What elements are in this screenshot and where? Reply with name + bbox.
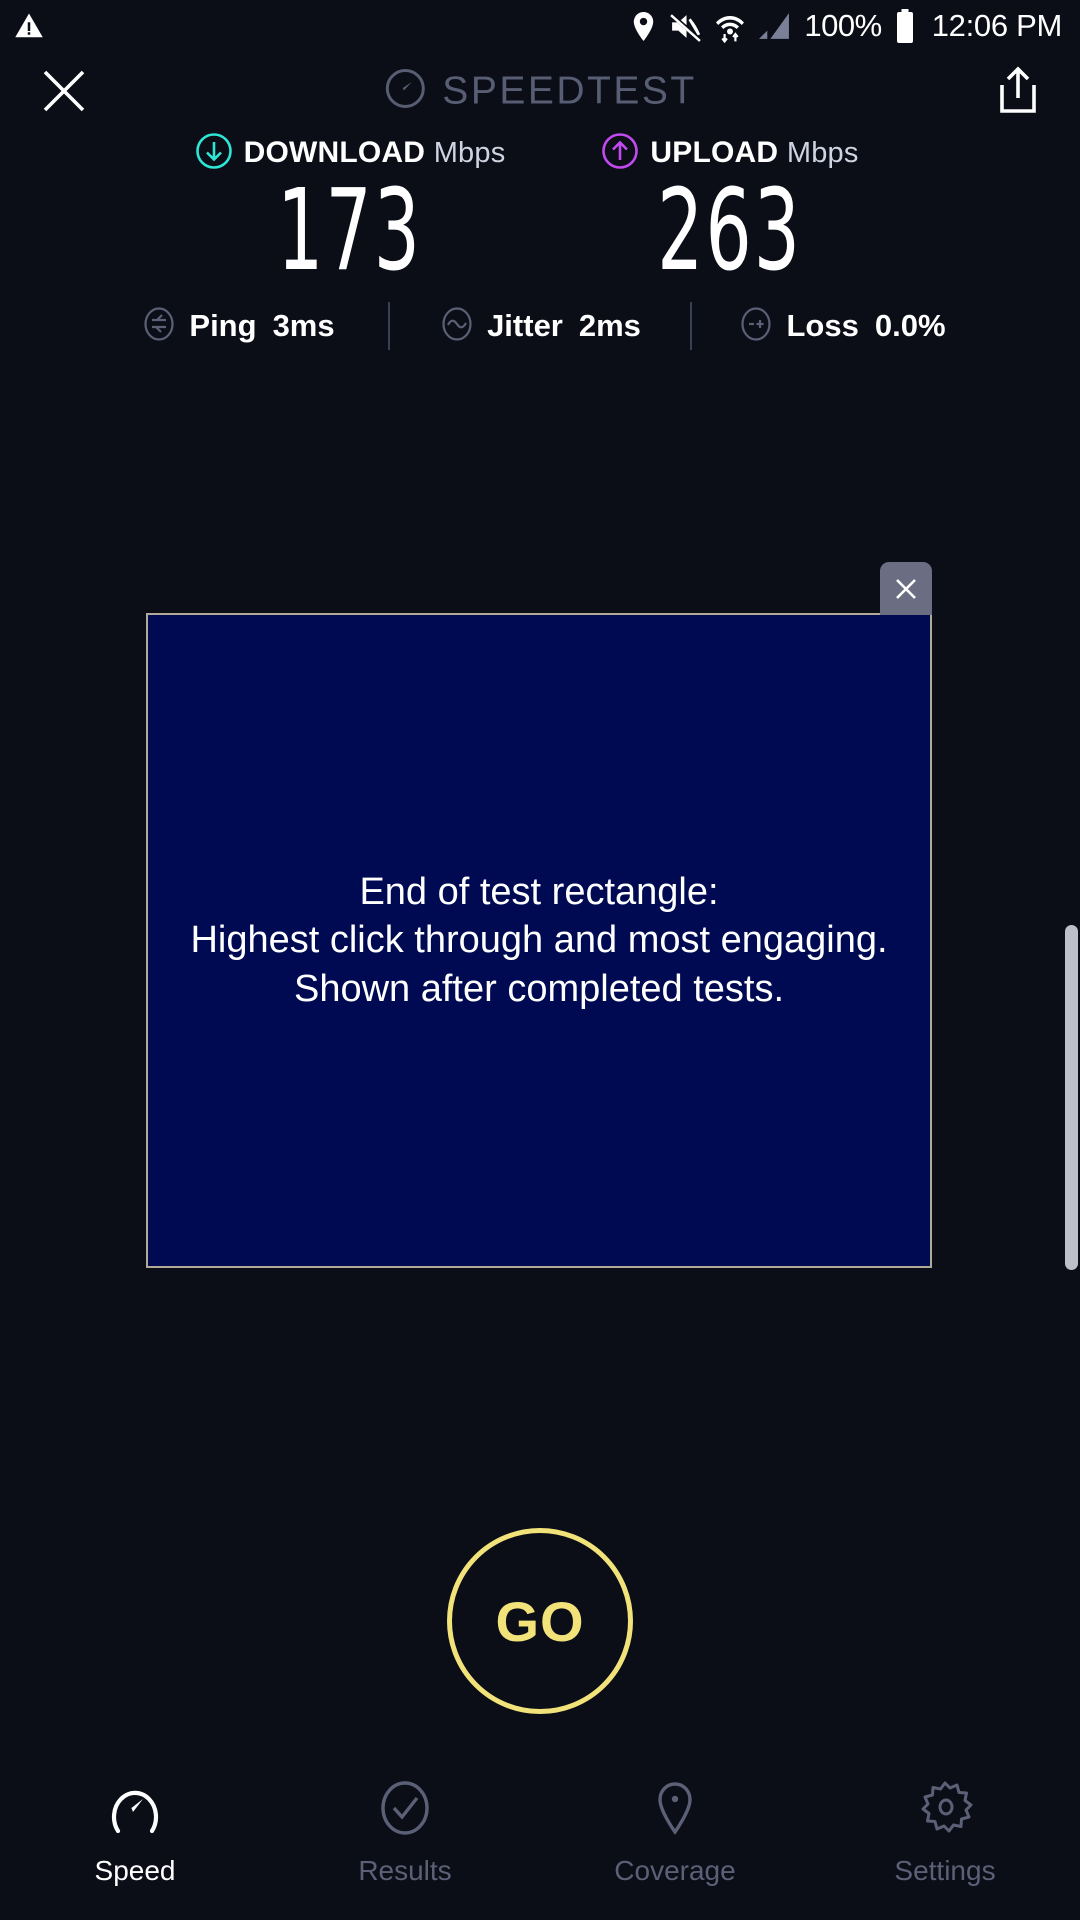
volume-muted-icon bbox=[669, 11, 702, 42]
nav-item-coverage[interactable]: Coverage bbox=[540, 1777, 810, 1887]
download-label: DOWNLOAD bbox=[244, 136, 426, 169]
share-icon[interactable] bbox=[990, 61, 1046, 121]
jitter-stat: Jitter 2ms bbox=[390, 306, 690, 347]
go-button[interactable]: GO bbox=[447, 1528, 633, 1714]
upload-metric: UPLOAD Mbps 263 bbox=[540, 132, 920, 284]
upload-unit: Mbps bbox=[787, 137, 859, 169]
vertical-scrollbar[interactable] bbox=[1065, 925, 1078, 1270]
ping-label: Ping bbox=[189, 308, 256, 344]
results-panel: DOWNLOAD Mbps 173 UPLOAD bbox=[0, 132, 1080, 284]
download-metric: DOWNLOAD Mbps 173 bbox=[160, 132, 540, 284]
close-icon[interactable] bbox=[36, 63, 92, 119]
download-arrow-icon bbox=[195, 132, 233, 175]
upload-arrow-icon bbox=[601, 132, 639, 175]
status-bar-clock: 12:06 PM bbox=[932, 8, 1062, 44]
loss-stat: Loss 0.0% bbox=[692, 306, 992, 347]
upload-label: UPLOAD bbox=[650, 136, 778, 169]
check-circle-icon bbox=[376, 1777, 434, 1839]
loss-icon bbox=[738, 306, 774, 347]
ping-stat: Ping 3ms bbox=[88, 306, 388, 347]
connection-stats-row: Ping 3ms Jitter 2ms Los bbox=[0, 300, 1080, 352]
speedtest-gauge-icon bbox=[383, 67, 427, 116]
ping-value: 3ms bbox=[273, 308, 335, 344]
gear-icon bbox=[916, 1777, 974, 1839]
ping-icon bbox=[141, 306, 177, 347]
speedtest-app-screen: 100% 12:06 PM SPEEDTEST bbox=[0, 0, 1080, 1920]
battery-full-icon bbox=[895, 9, 915, 44]
download-unit: Mbps bbox=[434, 137, 506, 169]
jitter-label: Jitter bbox=[487, 308, 563, 344]
map-pin-icon bbox=[646, 1777, 704, 1839]
ad-close-icon[interactable] bbox=[880, 562, 932, 615]
nav-item-settings[interactable]: Settings bbox=[810, 1777, 1080, 1887]
status-bar: 100% 12:06 PM bbox=[0, 0, 1080, 52]
advertisement-banner[interactable]: End of test rectangle: Highest click thr… bbox=[146, 613, 932, 1268]
bottom-navigation-bar: Speed Results Coverage bbox=[0, 1765, 1080, 1920]
loss-value: 0.0% bbox=[875, 308, 946, 344]
jitter-value: 2ms bbox=[579, 308, 641, 344]
advertisement-container: End of test rectangle: Highest click thr… bbox=[146, 613, 932, 1268]
speedometer-icon bbox=[106, 1777, 164, 1839]
nav-label-coverage: Coverage bbox=[614, 1855, 735, 1887]
speedtest-brand: SPEEDTEST bbox=[383, 67, 696, 116]
app-header: SPEEDTEST bbox=[0, 52, 1080, 130]
cellular-signal-icon bbox=[758, 11, 791, 42]
battery-percent-label: 100% bbox=[804, 8, 881, 44]
nav-label-results: Results bbox=[358, 1855, 451, 1887]
loss-label: Loss bbox=[786, 308, 858, 344]
download-value: 173 bbox=[278, 178, 423, 284]
wifi-icon bbox=[715, 10, 745, 43]
nav-item-speed[interactable]: Speed bbox=[0, 1777, 270, 1887]
nav-item-results[interactable]: Results bbox=[270, 1777, 540, 1887]
upload-value: 263 bbox=[658, 178, 803, 284]
location-pin-icon bbox=[631, 11, 656, 42]
warning-triangle-icon bbox=[14, 11, 44, 41]
brand-label: SPEEDTEST bbox=[442, 69, 696, 113]
jitter-icon bbox=[439, 306, 475, 347]
nav-label-speed: Speed bbox=[95, 1855, 176, 1887]
nav-label-settings: Settings bbox=[894, 1855, 995, 1887]
advertisement-text: End of test rectangle: Highest click thr… bbox=[190, 868, 887, 1014]
go-button-label: GO bbox=[495, 1589, 584, 1654]
